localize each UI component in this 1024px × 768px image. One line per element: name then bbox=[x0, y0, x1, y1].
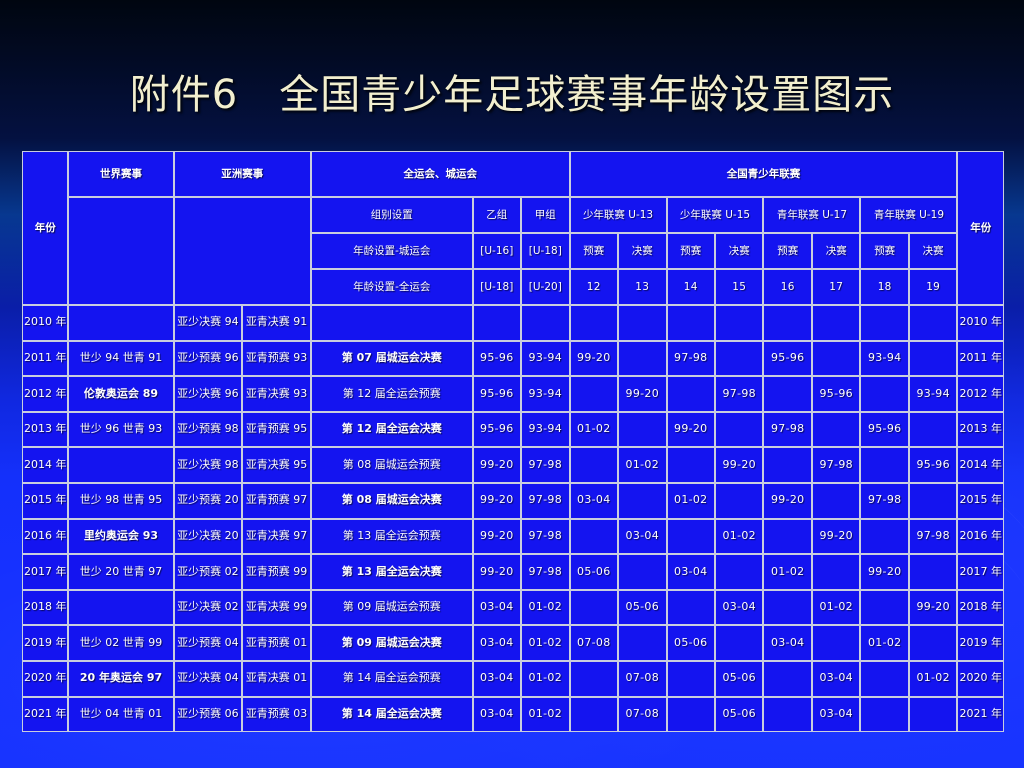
cell-year-left: 2010 年 bbox=[22, 305, 68, 341]
cell-asia-junior-event: 亚青预赛 93 bbox=[242, 341, 311, 377]
cell-league-1 bbox=[570, 376, 618, 412]
cell-world-event: 世少 20 世青 97 bbox=[68, 554, 173, 590]
cell-league-1: 99-20 bbox=[570, 341, 618, 377]
cell-games-group-b: 99-20 bbox=[473, 554, 521, 590]
cell-games-group-a: 93-94 bbox=[521, 341, 570, 377]
cell-league-4 bbox=[715, 554, 763, 590]
cell-asia-youth-event: 亚少决赛 96 bbox=[174, 376, 243, 412]
cell-league-6 bbox=[812, 412, 860, 448]
cell-league-1 bbox=[570, 697, 618, 733]
cell-world-event: 世少 04 世青 01 bbox=[68, 697, 173, 733]
cell-year-right: 2018 年 bbox=[957, 590, 1004, 626]
cell-league-6 bbox=[812, 305, 860, 341]
cell-league-5 bbox=[763, 376, 811, 412]
cell-league-1: 05-06 bbox=[570, 554, 618, 590]
cell-league-5: 95-96 bbox=[763, 341, 811, 377]
cell-year-left: 2017 年 bbox=[22, 554, 68, 590]
cell-year-right: 2015 年 bbox=[957, 483, 1004, 519]
cell-league-4 bbox=[715, 625, 763, 661]
table-row: 2012 年伦敦奥运会 89亚少决赛 96亚青决赛 93第 12 届全运会预赛9… bbox=[22, 376, 1004, 412]
cell-asia-youth-event: 亚少预赛 98 bbox=[174, 412, 243, 448]
cell-league-5: 99-20 bbox=[763, 483, 811, 519]
cell-league-5: 97-98 bbox=[763, 412, 811, 448]
table-row: 2018 年亚少决赛 02亚青决赛 99第 09 届城运会预赛03-0401-0… bbox=[22, 590, 1004, 626]
cell-asia-junior-event: 亚青预赛 01 bbox=[242, 625, 311, 661]
cell-league-5 bbox=[763, 447, 811, 483]
cell-league-7 bbox=[860, 697, 908, 733]
cell-asia-junior-event: 亚青预赛 99 bbox=[242, 554, 311, 590]
cell-league-3 bbox=[667, 519, 715, 555]
cell-league-6: 95-96 bbox=[812, 376, 860, 412]
header-group-a: 甲组 bbox=[521, 197, 570, 233]
cell-year-right: 2013 年 bbox=[957, 412, 1004, 448]
header-league-age-3: 14 bbox=[667, 269, 715, 305]
cell-world-event bbox=[68, 447, 173, 483]
table-row: 2016 年里约奥运会 93亚少决赛 20亚青决赛 97第 13 届全运会预赛9… bbox=[22, 519, 1004, 555]
header-age-city-a: [U-18] bbox=[521, 233, 570, 269]
cell-world-event: 里约奥运会 93 bbox=[68, 519, 173, 555]
cell-league-2: 99-20 bbox=[618, 376, 666, 412]
cell-asia-junior-event: 亚青预赛 95 bbox=[242, 412, 311, 448]
cell-games-event bbox=[311, 305, 473, 341]
cell-games-group-a: 97-98 bbox=[521, 519, 570, 555]
cell-year-left: 2012 年 bbox=[22, 376, 68, 412]
cell-year-right: 2011 年 bbox=[957, 341, 1004, 377]
cell-league-8: 97-98 bbox=[909, 519, 957, 555]
cell-year-right: 2019 年 bbox=[957, 625, 1004, 661]
cell-games-group-b: 95-96 bbox=[473, 376, 521, 412]
header-league-stage-1: 预赛 bbox=[570, 233, 618, 269]
header-league-stage-5: 预赛 bbox=[763, 233, 811, 269]
header-league-group-3: 青年联赛 U-17 bbox=[763, 197, 860, 233]
cell-league-1 bbox=[570, 590, 618, 626]
page-title: 附件6 全国青少年足球赛事年龄设置图示 bbox=[0, 62, 1024, 120]
cell-asia-youth-event: 亚少预赛 96 bbox=[174, 341, 243, 377]
cell-league-6 bbox=[812, 554, 860, 590]
cell-league-2 bbox=[618, 412, 666, 448]
cell-league-3: 99-20 bbox=[667, 412, 715, 448]
header-league-stage-7: 预赛 bbox=[860, 233, 908, 269]
cell-year-left: 2021 年 bbox=[22, 697, 68, 733]
header-youth-league: 全国青少年联赛 bbox=[570, 151, 958, 197]
cell-league-2: 03-04 bbox=[618, 519, 666, 555]
cell-league-2 bbox=[618, 554, 666, 590]
cell-league-8: 93-94 bbox=[909, 376, 957, 412]
cell-games-group-b: 99-20 bbox=[473, 519, 521, 555]
cell-year-left: 2015 年 bbox=[22, 483, 68, 519]
cell-league-4 bbox=[715, 341, 763, 377]
table-row: 2015 年世少 98 世青 95亚少预赛 20亚青预赛 97第 08 届城运会… bbox=[22, 483, 1004, 519]
cell-league-2 bbox=[618, 483, 666, 519]
cell-games-event: 第 08 届城运会决赛 bbox=[311, 483, 473, 519]
cell-league-7: 97-98 bbox=[860, 483, 908, 519]
cell-world-event: 世少 94 世青 91 bbox=[68, 341, 173, 377]
cell-asia-junior-event: 亚青预赛 97 bbox=[242, 483, 311, 519]
cell-league-5: 03-04 bbox=[763, 625, 811, 661]
cell-year-left: 2013 年 bbox=[22, 412, 68, 448]
cell-games-group-b: 03-04 bbox=[473, 625, 521, 661]
cell-league-4: 01-02 bbox=[715, 519, 763, 555]
cell-year-right: 2016 年 bbox=[957, 519, 1004, 555]
header-year-right: 年份 bbox=[957, 151, 1004, 305]
cell-games-group-a: 01-02 bbox=[521, 590, 570, 626]
cell-league-8 bbox=[909, 412, 957, 448]
cell-league-1 bbox=[570, 447, 618, 483]
cell-league-3 bbox=[667, 697, 715, 733]
cell-league-7 bbox=[860, 519, 908, 555]
cell-asia-junior-event: 亚青决赛 95 bbox=[242, 447, 311, 483]
cell-league-4: 05-06 bbox=[715, 697, 763, 733]
header-league-age-6: 17 bbox=[812, 269, 860, 305]
header-group-setting: 组别设置 bbox=[311, 197, 473, 233]
table-row: 2021 年世少 04 世青 01亚少预赛 06亚青预赛 03第 14 届全运会… bbox=[22, 697, 1004, 733]
cell-games-event: 第 08 届城运会预赛 bbox=[311, 447, 473, 483]
header-league-group-4: 青年联赛 U-19 bbox=[860, 197, 957, 233]
cell-asia-youth-event: 亚少预赛 20 bbox=[174, 483, 243, 519]
cell-games-group-a: 93-94 bbox=[521, 412, 570, 448]
header-age-national-a: [U-20] bbox=[521, 269, 570, 305]
cell-league-2: 07-08 bbox=[618, 661, 666, 697]
header-age-city-b: [U-16] bbox=[473, 233, 521, 269]
header-league-stage-3: 预赛 bbox=[667, 233, 715, 269]
cell-games-event: 第 13 届全运会预赛 bbox=[311, 519, 473, 555]
cell-games-group-a: 97-98 bbox=[521, 483, 570, 519]
cell-games-group-a: 97-98 bbox=[521, 447, 570, 483]
cell-games-group-a: 97-98 bbox=[521, 554, 570, 590]
cell-year-left: 2011 年 bbox=[22, 341, 68, 377]
cell-league-8 bbox=[909, 483, 957, 519]
cell-games-group-a bbox=[521, 305, 570, 341]
cell-asia-youth-event: 亚少决赛 04 bbox=[174, 661, 243, 697]
cell-year-right: 2021 年 bbox=[957, 697, 1004, 733]
cell-year-left: 2018 年 bbox=[22, 590, 68, 626]
cell-league-6: 03-04 bbox=[812, 697, 860, 733]
slide-canvas: 附件6 全国青少年足球赛事年龄设置图示 年份世界赛事亚洲赛事全运会、城运会全国青… bbox=[0, 0, 1024, 768]
cell-league-6: 01-02 bbox=[812, 590, 860, 626]
header-league-group-1: 少年联赛 U-13 bbox=[570, 197, 667, 233]
cell-asia-junior-event: 亚青决赛 99 bbox=[242, 590, 311, 626]
cell-games-event: 第 14 届全运会预赛 bbox=[311, 661, 473, 697]
cell-league-2 bbox=[618, 341, 666, 377]
cell-year-left: 2019 年 bbox=[22, 625, 68, 661]
table-header-row-groups: 组别设置乙组甲组少年联赛 U-13少年联赛 U-15青年联赛 U-17青年联赛 … bbox=[22, 197, 1004, 233]
table-row: 2011 年世少 94 世青 91亚少预赛 96亚青预赛 93第 07 届城运会… bbox=[22, 341, 1004, 377]
cell-games-group-b: 95-96 bbox=[473, 341, 521, 377]
header-age-national-games: 年龄设置-全运会 bbox=[311, 269, 473, 305]
header-asia-events-spacer bbox=[174, 197, 311, 305]
cell-games-group-a: 01-02 bbox=[521, 661, 570, 697]
cell-league-3: 97-98 bbox=[667, 341, 715, 377]
cell-asia-junior-event: 亚青预赛 03 bbox=[242, 697, 311, 733]
cell-league-2: 01-02 bbox=[618, 447, 666, 483]
cell-league-4 bbox=[715, 483, 763, 519]
cell-games-event: 第 12 届全运会预赛 bbox=[311, 376, 473, 412]
cell-league-7: 01-02 bbox=[860, 625, 908, 661]
table-row: 2017 年世少 20 世青 97亚少预赛 02亚青预赛 99第 13 届全运会… bbox=[22, 554, 1004, 590]
cell-league-4: 05-06 bbox=[715, 661, 763, 697]
header-asia-events: 亚洲赛事 bbox=[174, 151, 311, 197]
cell-year-right: 2017 年 bbox=[957, 554, 1004, 590]
cell-asia-youth-event: 亚少预赛 04 bbox=[174, 625, 243, 661]
cell-league-5 bbox=[763, 519, 811, 555]
cell-league-4 bbox=[715, 305, 763, 341]
cell-world-event: 伦敦奥运会 89 bbox=[68, 376, 173, 412]
cell-year-right: 2012 年 bbox=[957, 376, 1004, 412]
header-league-age-4: 15 bbox=[715, 269, 763, 305]
cell-league-1: 01-02 bbox=[570, 412, 618, 448]
cell-world-event bbox=[68, 590, 173, 626]
cell-games-group-b: 03-04 bbox=[473, 590, 521, 626]
header-world-events: 世界赛事 bbox=[68, 151, 173, 197]
cell-league-8: 95-96 bbox=[909, 447, 957, 483]
cell-league-2: 07-08 bbox=[618, 697, 666, 733]
cell-asia-youth-event: 亚少决赛 98 bbox=[174, 447, 243, 483]
cell-league-3: 03-04 bbox=[667, 554, 715, 590]
age-setting-table: 年份世界赛事亚洲赛事全运会、城运会全国青少年联赛年份组别设置乙组甲组少年联赛 U… bbox=[22, 151, 1004, 732]
cell-games-group-a: 93-94 bbox=[521, 376, 570, 412]
cell-league-1: 07-08 bbox=[570, 625, 618, 661]
cell-league-4: 97-98 bbox=[715, 376, 763, 412]
cell-league-8 bbox=[909, 305, 957, 341]
cell-league-8 bbox=[909, 554, 957, 590]
cell-games-group-b bbox=[473, 305, 521, 341]
cell-asia-youth-event: 亚少决赛 20 bbox=[174, 519, 243, 555]
header-league-age-5: 16 bbox=[763, 269, 811, 305]
header-age-national-b: [U-18] bbox=[473, 269, 521, 305]
cell-asia-junior-event: 亚青决赛 91 bbox=[242, 305, 311, 341]
cell-league-3 bbox=[667, 590, 715, 626]
cell-league-7 bbox=[860, 305, 908, 341]
cell-world-event bbox=[68, 305, 173, 341]
cell-league-1 bbox=[570, 305, 618, 341]
header-group-b: 乙组 bbox=[473, 197, 521, 233]
header-national-games: 全运会、城运会 bbox=[311, 151, 570, 197]
cell-league-6: 97-98 bbox=[812, 447, 860, 483]
cell-league-2 bbox=[618, 305, 666, 341]
cell-games-event: 第 07 届城运会决赛 bbox=[311, 341, 473, 377]
cell-league-6 bbox=[812, 341, 860, 377]
cell-league-8: 01-02 bbox=[909, 661, 957, 697]
table-row: 2014 年亚少决赛 98亚青决赛 95第 08 届城运会预赛99-2097-9… bbox=[22, 447, 1004, 483]
cell-league-1 bbox=[570, 519, 618, 555]
cell-league-5 bbox=[763, 697, 811, 733]
cell-asia-youth-event: 亚少决赛 94 bbox=[174, 305, 243, 341]
cell-year-left: 2014 年 bbox=[22, 447, 68, 483]
cell-league-7 bbox=[860, 376, 908, 412]
cell-games-event: 第 13 届全运会决赛 bbox=[311, 554, 473, 590]
cell-league-4: 99-20 bbox=[715, 447, 763, 483]
cell-league-8: 99-20 bbox=[909, 590, 957, 626]
table-row: 2020 年20 年奥运会 97亚少决赛 04亚青决赛 01第 14 届全运会预… bbox=[22, 661, 1004, 697]
header-league-age-2: 13 bbox=[618, 269, 666, 305]
cell-league-3 bbox=[667, 376, 715, 412]
cell-asia-youth-event: 亚少决赛 02 bbox=[174, 590, 243, 626]
header-league-group-2: 少年联赛 U-15 bbox=[667, 197, 764, 233]
header-league-age-8: 19 bbox=[909, 269, 957, 305]
cell-league-1 bbox=[570, 661, 618, 697]
cell-league-7: 93-94 bbox=[860, 341, 908, 377]
cell-league-5 bbox=[763, 305, 811, 341]
cell-games-group-b: 03-04 bbox=[473, 697, 521, 733]
cell-league-2 bbox=[618, 625, 666, 661]
cell-league-8 bbox=[909, 697, 957, 733]
cell-league-8 bbox=[909, 341, 957, 377]
cell-games-event: 第 09 届城运会决赛 bbox=[311, 625, 473, 661]
header-league-age-1: 12 bbox=[570, 269, 618, 305]
cell-games-group-b: 99-20 bbox=[473, 447, 521, 483]
cell-league-6 bbox=[812, 625, 860, 661]
cell-league-3 bbox=[667, 661, 715, 697]
cell-league-7 bbox=[860, 661, 908, 697]
header-age-city-games: 年龄设置-城运会 bbox=[311, 233, 473, 269]
cell-games-event: 第 12 届全运会决赛 bbox=[311, 412, 473, 448]
cell-games-event: 第 14 届全运会决赛 bbox=[311, 697, 473, 733]
cell-league-6: 03-04 bbox=[812, 661, 860, 697]
cell-league-6 bbox=[812, 483, 860, 519]
header-league-stage-6: 决赛 bbox=[812, 233, 860, 269]
table-header-row-top: 年份世界赛事亚洲赛事全运会、城运会全国青少年联赛年份 bbox=[22, 151, 1004, 197]
cell-league-5 bbox=[763, 661, 811, 697]
cell-league-2: 05-06 bbox=[618, 590, 666, 626]
cell-games-event: 第 09 届城运会预赛 bbox=[311, 590, 473, 626]
cell-world-event: 世少 02 世青 99 bbox=[68, 625, 173, 661]
cell-games-group-a: 01-02 bbox=[521, 697, 570, 733]
cell-league-5: 01-02 bbox=[763, 554, 811, 590]
cell-year-right: 2014 年 bbox=[957, 447, 1004, 483]
cell-league-7 bbox=[860, 590, 908, 626]
cell-league-7: 99-20 bbox=[860, 554, 908, 590]
cell-asia-junior-event: 亚青决赛 93 bbox=[242, 376, 311, 412]
cell-year-right: 2010 年 bbox=[957, 305, 1004, 341]
table-row: 2019 年世少 02 世青 99亚少预赛 04亚青预赛 01第 09 届城运会… bbox=[22, 625, 1004, 661]
cell-year-left: 2016 年 bbox=[22, 519, 68, 555]
cell-games-group-b: 95-96 bbox=[473, 412, 521, 448]
cell-asia-youth-event: 亚少预赛 06 bbox=[174, 697, 243, 733]
header-league-stage-2: 决赛 bbox=[618, 233, 666, 269]
cell-league-1: 03-04 bbox=[570, 483, 618, 519]
age-setting-table-wrapper: 年份世界赛事亚洲赛事全运会、城运会全国青少年联赛年份组别设置乙组甲组少年联赛 U… bbox=[22, 151, 1004, 732]
cell-league-8 bbox=[909, 625, 957, 661]
header-league-age-7: 18 bbox=[860, 269, 908, 305]
table-row: 2013 年世少 96 世青 93亚少预赛 98亚青预赛 95第 12 届全运会… bbox=[22, 412, 1004, 448]
cell-world-event: 世少 98 世青 95 bbox=[68, 483, 173, 519]
cell-games-group-b: 03-04 bbox=[473, 661, 521, 697]
header-league-stage-8: 决赛 bbox=[909, 233, 957, 269]
header-year-left: 年份 bbox=[22, 151, 68, 305]
cell-games-group-b: 99-20 bbox=[473, 483, 521, 519]
table-row: 2010 年亚少决赛 94亚青决赛 912010 年 bbox=[22, 305, 1004, 341]
cell-asia-youth-event: 亚少预赛 02 bbox=[174, 554, 243, 590]
cell-league-3: 01-02 bbox=[667, 483, 715, 519]
cell-world-event: 世少 96 世青 93 bbox=[68, 412, 173, 448]
cell-league-7 bbox=[860, 447, 908, 483]
cell-league-7: 95-96 bbox=[860, 412, 908, 448]
header-league-stage-4: 决赛 bbox=[715, 233, 763, 269]
cell-league-3 bbox=[667, 447, 715, 483]
cell-league-3: 05-06 bbox=[667, 625, 715, 661]
cell-league-4 bbox=[715, 412, 763, 448]
cell-year-left: 2020 年 bbox=[22, 661, 68, 697]
cell-league-3 bbox=[667, 305, 715, 341]
cell-league-5 bbox=[763, 590, 811, 626]
cell-league-4: 03-04 bbox=[715, 590, 763, 626]
cell-asia-junior-event: 亚青决赛 97 bbox=[242, 519, 311, 555]
cell-year-right: 2020 年 bbox=[957, 661, 1004, 697]
cell-asia-junior-event: 亚青决赛 01 bbox=[242, 661, 311, 697]
cell-world-event: 20 年奥运会 97 bbox=[68, 661, 173, 697]
cell-games-group-a: 01-02 bbox=[521, 625, 570, 661]
header-world-events-spacer bbox=[68, 197, 173, 305]
cell-league-6: 99-20 bbox=[812, 519, 860, 555]
